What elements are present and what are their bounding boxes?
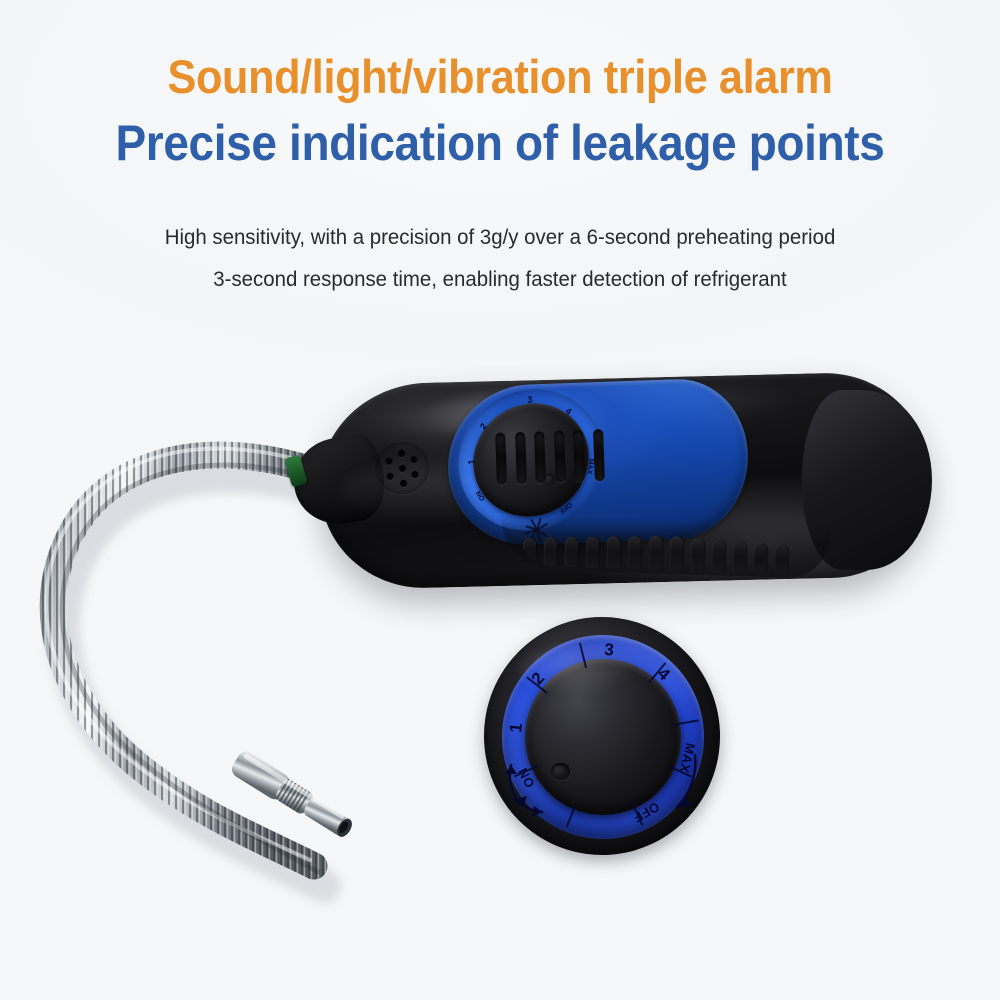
speaker-hole xyxy=(399,479,406,486)
vent-slots xyxy=(495,422,605,492)
speaker-hole xyxy=(385,458,392,465)
grip-rib xyxy=(711,540,725,572)
grip-rib xyxy=(543,537,557,566)
subtext-line-2: 3-second response time, enabling faster … xyxy=(25,258,975,300)
vent-slot xyxy=(534,431,546,483)
subtext-line-1: High sensitivity, with a precision of 3g… xyxy=(25,216,975,258)
headline-secondary: Precise indication of leakage points xyxy=(40,112,960,174)
grip-rib xyxy=(522,538,536,567)
grip-rib xyxy=(606,537,620,569)
grip-rib xyxy=(753,543,767,573)
grip-rib xyxy=(732,541,746,572)
vent-slot xyxy=(495,433,507,485)
headline-block: Sound/light/vibration triple alarm Preci… xyxy=(0,48,1000,174)
sensitivity-dial-closeup[interactable]: ON1234MAXOFF xyxy=(478,613,728,865)
grip-rib xyxy=(585,537,599,568)
grip-rib xyxy=(648,536,662,570)
vent-slot xyxy=(515,432,527,484)
vent-slot xyxy=(593,429,605,481)
dial-label-on: ON xyxy=(0,0,1,1)
speaker-hole xyxy=(386,473,393,480)
subtext-block: High sensitivity, with a precision of 3g… xyxy=(0,216,1000,300)
grip-rib xyxy=(564,537,578,567)
grip-rib xyxy=(669,537,683,571)
dial-label-1: 1 xyxy=(506,722,527,734)
grip-ribs xyxy=(514,523,805,576)
dial-label-1: 1 xyxy=(466,459,476,464)
gooseneck-shadow xyxy=(63,476,324,886)
dial-label-list: ON 1 2 3 4 MAX OFF xyxy=(0,0,1,1)
detector-tail xyxy=(802,390,932,570)
vent-slot xyxy=(554,430,566,482)
refrigerant-leak-detector: ON1234MAXOFF xyxy=(300,360,940,610)
vent-slot xyxy=(573,430,585,482)
grip-rib xyxy=(774,545,788,574)
grip-rib xyxy=(690,538,704,571)
dial-closeup-detent-dot xyxy=(551,763,570,780)
product-image-canvas: Sound/light/vibration triple alarm Preci… xyxy=(0,0,1000,1000)
dial-label-3: 3 xyxy=(527,395,532,405)
dial-label-3: 3 xyxy=(604,640,615,661)
speaker-grille xyxy=(373,440,430,496)
grip-rib xyxy=(627,536,641,569)
speaker-hole xyxy=(397,449,404,456)
speaker-hole xyxy=(398,464,405,471)
headline-primary: Sound/light/vibration triple alarm xyxy=(40,48,960,106)
